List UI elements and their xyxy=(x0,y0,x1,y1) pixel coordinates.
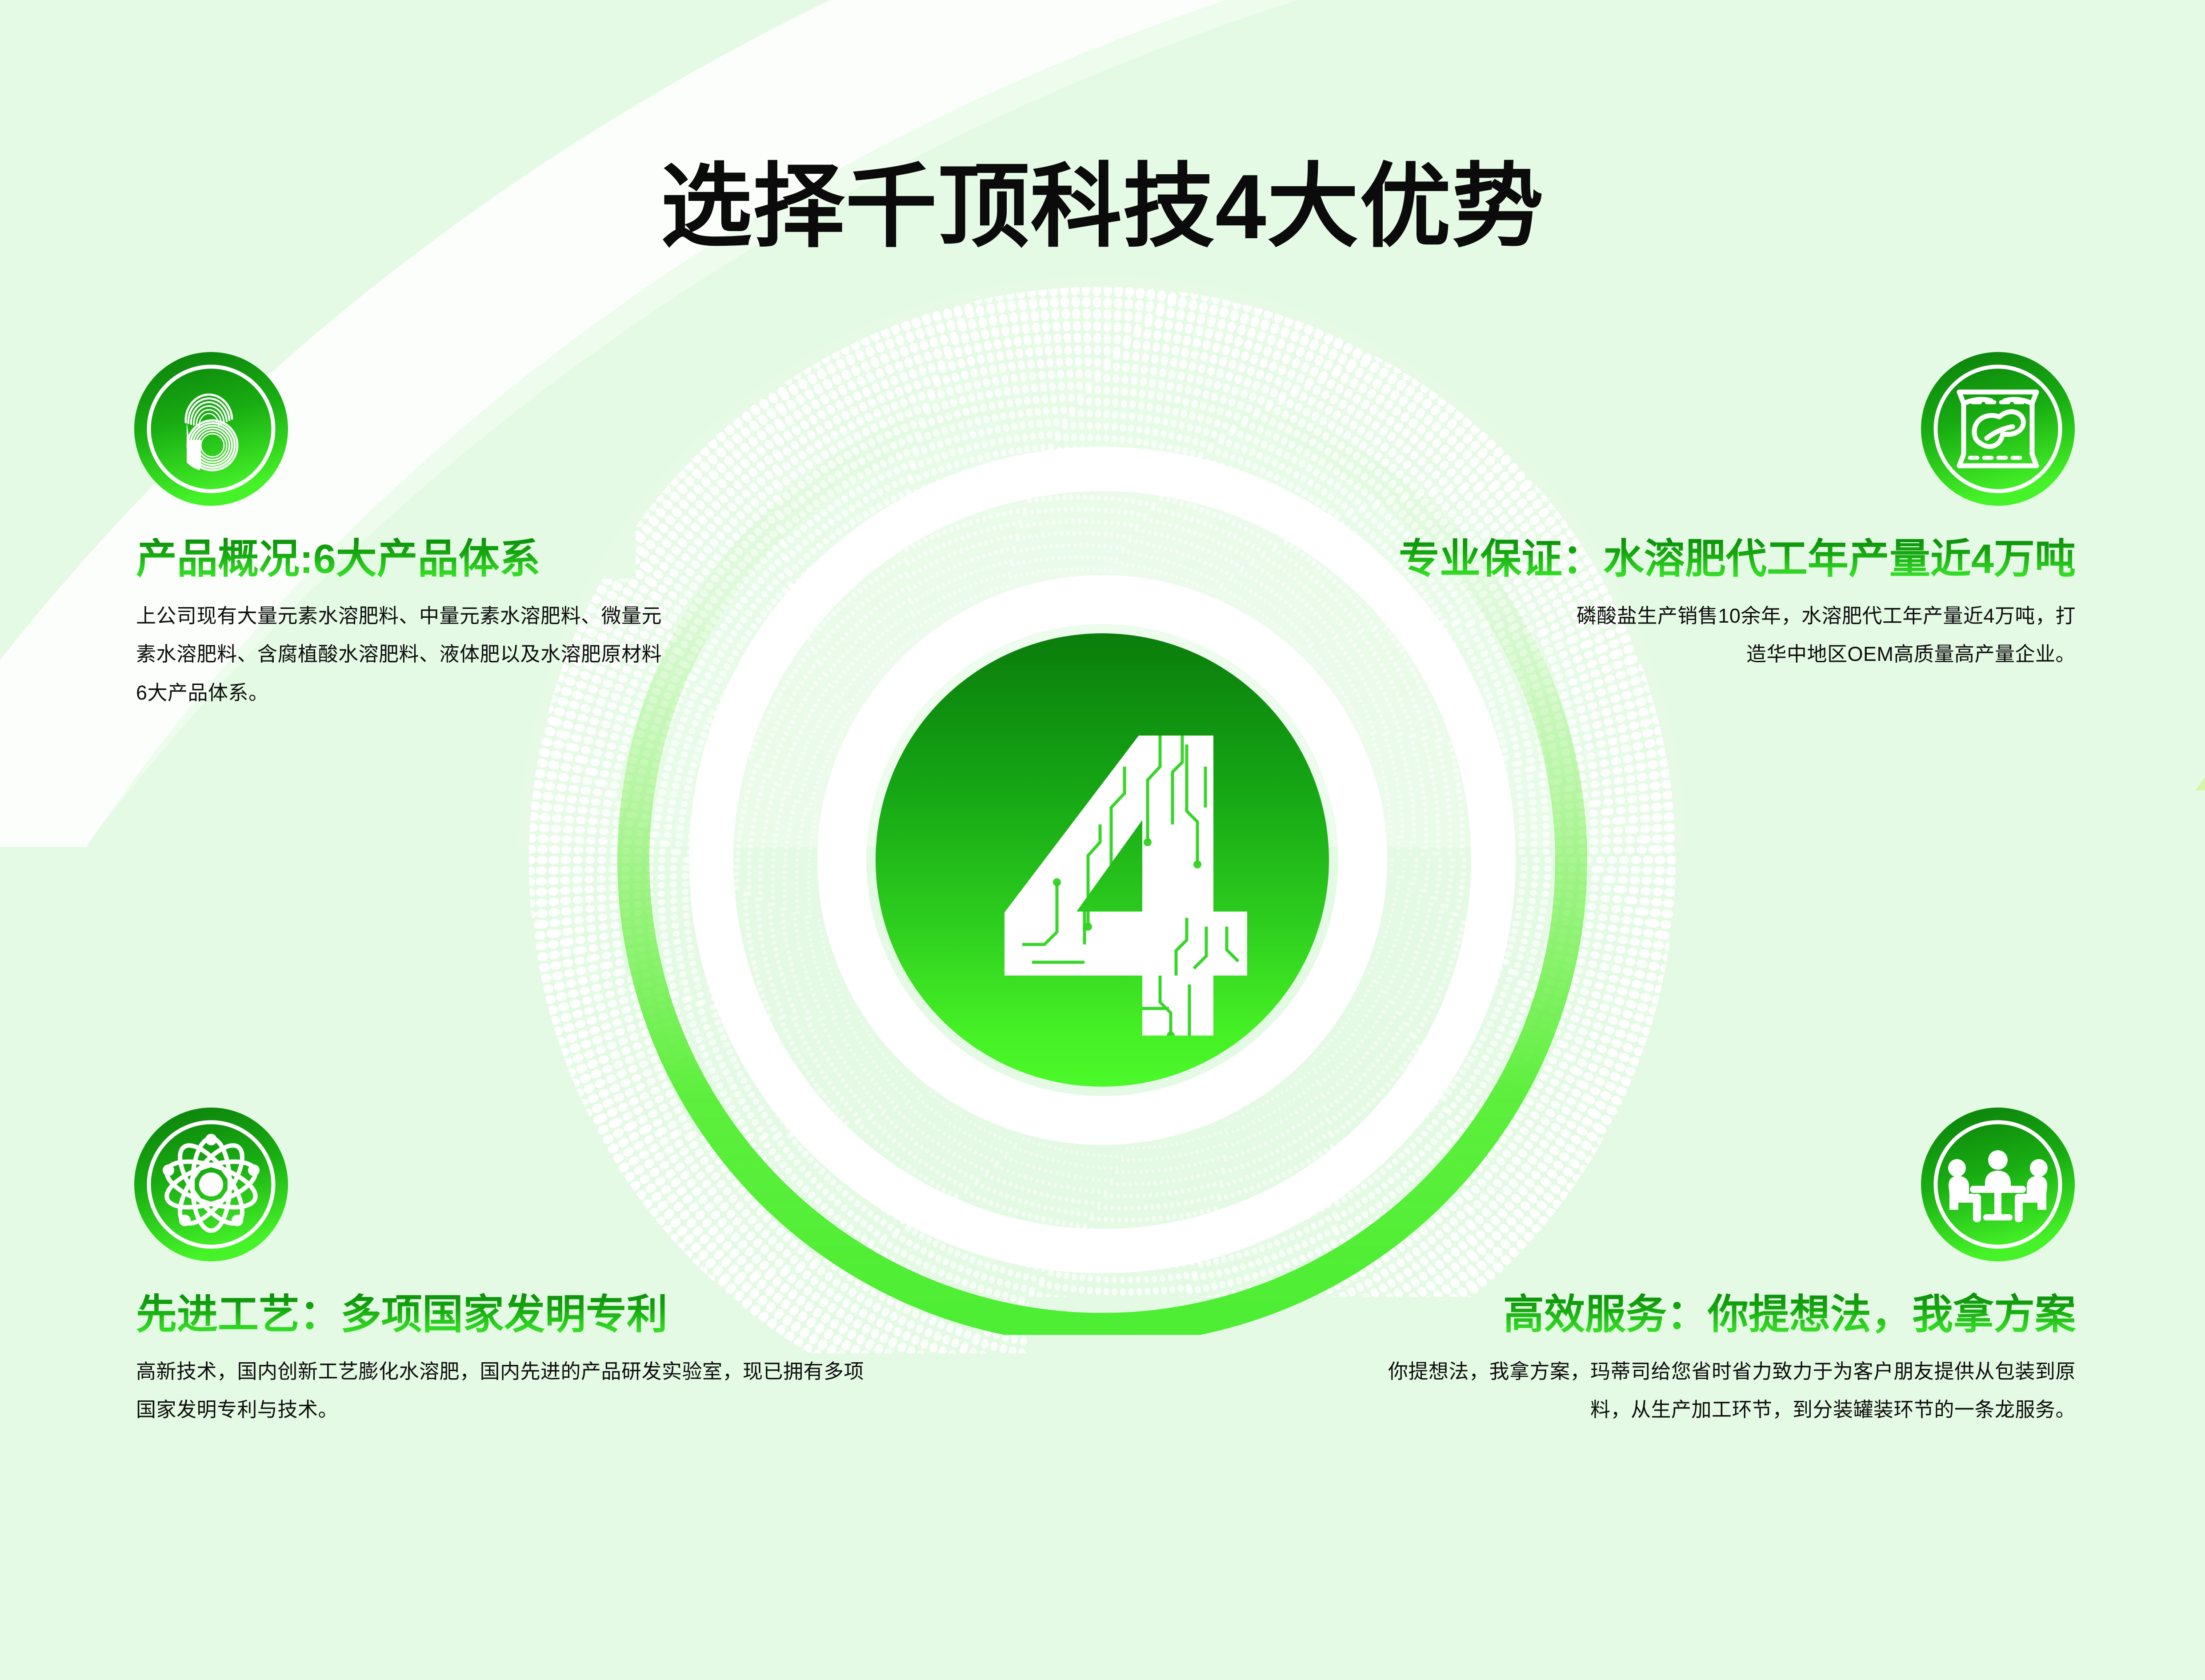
advantage-block-top-right: 专业保证：水溶肥代工年产量近4万吨 磷酸盐生产销售10余年，水溶肥代工年产量近4… xyxy=(1218,351,2076,674)
advantage-heading: 先进工艺：多项国家发明专利 xyxy=(136,1291,889,1339)
page-title: 选择千顶科技4大优势 xyxy=(0,158,2205,255)
badge-svg-meeting xyxy=(1920,1107,2076,1262)
advantage-block-top-left: 产品概况:6大产品体系 上公司现有大量元素水溶肥料、中量元素水溶肥料、微量元素水… xyxy=(133,351,707,712)
meeting-table-people-icon xyxy=(1920,1107,2076,1262)
advantage-body: 磷酸盐生产销售10余年，水溶肥代工年产量近4万吨，打造华中地区OEM高质量高产量… xyxy=(1565,597,2076,674)
infographic-canvas: 选择千顶科技4大优势 xyxy=(0,0,2205,1680)
badge-svg-atom xyxy=(133,1107,289,1262)
badge-svg-six xyxy=(133,351,289,507)
atom-icon xyxy=(133,1107,289,1262)
advantage-block-bottom-left: 先进工艺：多项国家发明专利 高新技术，国内创新工艺膨化水溶肥，国内先进的产品研发… xyxy=(133,1107,889,1429)
advantage-body: 高新技术，国内创新工艺膨化水溶肥，国内先进的产品研发实验室，现已拥有多项国家发明… xyxy=(136,1352,883,1430)
center-number-4-icon xyxy=(876,633,1329,1087)
advantage-heading: 产品概况:6大产品体系 xyxy=(136,535,707,584)
advantage-body: 上公司现有大量元素水溶肥料、中量元素水溶肥料、微量元素水溶肥料、含腐植酸水溶肥料… xyxy=(136,597,669,713)
badge-svg-bag xyxy=(1920,351,2076,507)
advantage-heading: 专业保证：水溶肥代工年产量近4万吨 xyxy=(1218,535,2076,584)
center-emblem xyxy=(876,633,1329,1087)
advantage-body: 你提想法，我拿方案，玛蒂司给您省时省力致力于为客户朋友提供从包装到原料，从生产加… xyxy=(1382,1352,2076,1430)
advantage-heading: 高效服务：你提想法，我拿方案 xyxy=(1325,1291,2076,1339)
fertilizer-bag-icon xyxy=(1920,351,2076,507)
advantage-block-bottom-right: 高效服务：你提想法，我拿方案 你提想法，我拿方案，玛蒂司给您省时省力致力于为客户… xyxy=(1325,1107,2076,1429)
number-six-spiral-icon xyxy=(133,351,289,507)
